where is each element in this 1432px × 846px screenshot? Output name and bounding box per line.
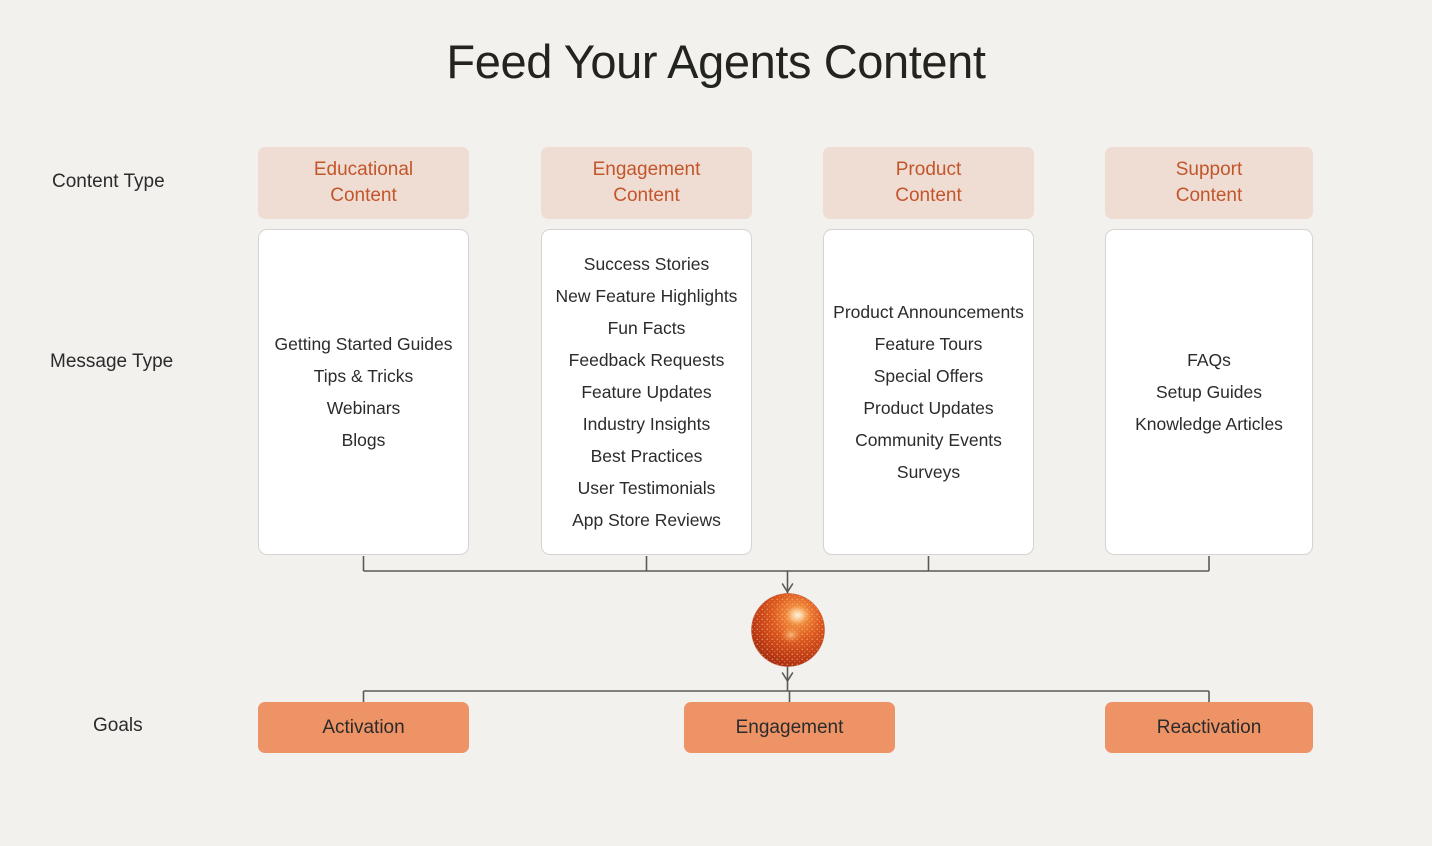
content-type-engagement[interactable]: Engagement Content [541, 147, 752, 219]
message-item: Setup Guides [1106, 376, 1312, 408]
message-item: Industry Insights [542, 408, 751, 440]
row-label-message-type: Message Type [50, 351, 173, 373]
message-item: Blogs [259, 424, 468, 456]
message-item: Success Stories [542, 248, 751, 280]
content-type-label-line2: Content [895, 183, 962, 209]
message-item: Feature Tours [824, 328, 1033, 360]
orange-sphere-icon [751, 593, 825, 667]
goal-activation[interactable]: Activation [258, 702, 469, 753]
message-item: Special Offers [824, 360, 1033, 392]
message-item: Getting Started Guides [259, 328, 468, 360]
message-item: Knowledge Articles [1106, 408, 1312, 440]
message-item: Webinars [259, 392, 468, 424]
message-item: Community Events [824, 424, 1033, 456]
message-item: FAQs [1106, 344, 1312, 376]
page-title: Feed Your Agents Content [0, 36, 1432, 89]
content-type-label-line1: Product [895, 157, 962, 183]
diagram-canvas: Feed Your Agents Content Content Type Me… [0, 0, 1432, 846]
message-item: Tips & Tricks [259, 360, 468, 392]
goal-engagement[interactable]: Engagement [684, 702, 895, 753]
message-item: New Feature Highlights [542, 280, 751, 312]
message-item: Surveys [824, 456, 1033, 488]
goal-reactivation[interactable]: Reactivation [1105, 702, 1313, 753]
message-card-support[interactable]: FAQs Setup Guides Knowledge Articles [1105, 229, 1313, 555]
message-item: User Testimonials [542, 472, 751, 504]
content-type-product[interactable]: Product Content [823, 147, 1034, 219]
message-item: Product Updates [824, 392, 1033, 424]
goal-label: Engagement [736, 717, 844, 739]
row-label-goals: Goals [93, 715, 143, 737]
content-type-label-line2: Content [593, 183, 701, 209]
message-card-product[interactable]: Product Announcements Feature Tours Spec… [823, 229, 1034, 555]
message-item: Product Announcements [824, 296, 1033, 328]
content-type-educational[interactable]: Educational Content [258, 147, 469, 219]
content-type-label-line1: Support [1176, 157, 1243, 183]
content-type-label-line2: Content [1176, 183, 1243, 209]
row-label-content-type: Content Type [52, 171, 165, 193]
goal-label: Activation [322, 717, 404, 739]
message-item: Feature Updates [542, 376, 751, 408]
message-item: Feedback Requests [542, 344, 751, 376]
content-type-label-line1: Educational [314, 157, 413, 183]
message-item: Fun Facts [542, 312, 751, 344]
content-type-label-line1: Engagement [593, 157, 701, 183]
content-type-support[interactable]: Support Content [1105, 147, 1313, 219]
message-item: Best Practices [542, 440, 751, 472]
message-card-educational[interactable]: Getting Started Guides Tips & Tricks Web… [258, 229, 469, 555]
message-item: App Store Reviews [542, 504, 751, 536]
message-card-engagement[interactable]: Success Stories New Feature Highlights F… [541, 229, 752, 555]
goal-label: Reactivation [1157, 717, 1262, 739]
content-type-label-line2: Content [314, 183, 413, 209]
